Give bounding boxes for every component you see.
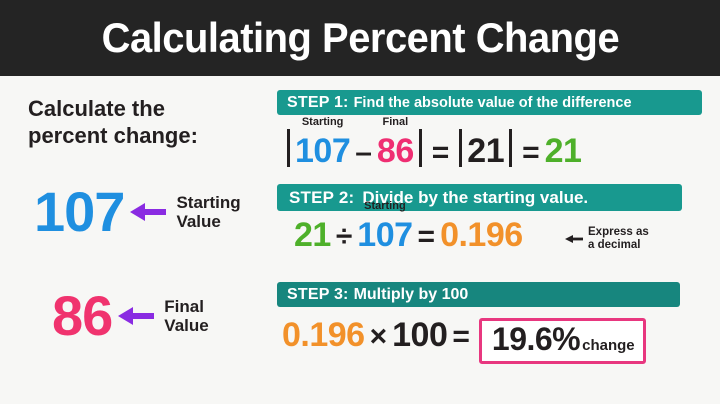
- starting-value-label: Starting Value: [176, 193, 240, 231]
- final-term-group: Final 86: [377, 134, 414, 168]
- decimal-note: Express as a decimal: [564, 226, 649, 252]
- equals-operator-2: =: [522, 138, 540, 168]
- arrow-left-icon: [128, 200, 168, 224]
- final-answer-box: 19.6% change: [479, 318, 646, 364]
- minus-operator: –: [355, 138, 372, 168]
- eq2-result: 0.196: [440, 218, 523, 252]
- eq1-result: 21: [545, 134, 582, 168]
- steps-panel: STEP 1: Find the absolute value of the d…: [272, 76, 720, 404]
- arrow-left-icon: [564, 233, 584, 245]
- eq1-starting-value: 107: [295, 132, 350, 170]
- step-2-header: STEP 2: Divide by the starting value.: [277, 184, 682, 211]
- abs-bar-close-2-icon: [509, 129, 512, 167]
- abs-bar-close-icon: [419, 129, 422, 167]
- times-operator: ×: [370, 322, 388, 352]
- denominator-group: Starting 107: [357, 218, 412, 252]
- equals-operator-4: =: [452, 322, 470, 352]
- eq1-final-value: 86: [377, 132, 414, 170]
- equals-operator-1: =: [432, 138, 450, 168]
- title-banner: Calculating Percent Change: [0, 0, 720, 76]
- final-value-row: 86 Final Value: [52, 288, 209, 344]
- abs-bar-open-2-icon: [459, 129, 462, 167]
- starting-term-group: Starting 107: [295, 134, 350, 168]
- step-1-equation: Starting 107 – Final 86 = 21 = 21: [282, 124, 581, 168]
- eq1-difference: 21: [467, 134, 504, 168]
- equals-operator-3: =: [418, 222, 436, 252]
- final-mini-tag: Final: [382, 117, 408, 128]
- problem-panel: Calculate the percent change: 107 Starti…: [0, 76, 272, 404]
- final-answer-value: 19.6%: [492, 323, 580, 357]
- eq2-numerator: 21: [294, 218, 331, 252]
- step-3-header: STEP 3: Multiply by 100: [277, 282, 680, 307]
- arrow-left-icon: [116, 304, 156, 328]
- starting-mini-tag: Starting: [302, 117, 344, 128]
- step-3-label: STEP 3:: [287, 286, 349, 304]
- step-2-equation: 21 ÷ Starting 107 = 0.196: [294, 218, 523, 252]
- step-1-description: Find the absolute value of the differenc…: [354, 95, 632, 111]
- problem-prompt: Calculate the percent change:: [28, 96, 248, 150]
- abs-bar-open-icon: [287, 129, 290, 167]
- step-1-label: STEP 1:: [287, 94, 349, 112]
- decimal-note-text: Express as a decimal: [588, 226, 649, 252]
- step-3-equation: 0.196 × 100 = 19.6% change: [282, 314, 646, 360]
- starting-value-number: 107: [34, 184, 124, 240]
- step-2-label: STEP 2:: [289, 188, 354, 208]
- eq2-denominator: 107: [357, 216, 412, 254]
- page-title: Calculating Percent Change: [101, 17, 619, 59]
- starting-mini-tag-2: Starting: [364, 201, 406, 212]
- starting-value-row: 107 Starting Value: [34, 184, 241, 240]
- step-3-description: Multiply by 100: [354, 286, 469, 304]
- eq3-decimal: 0.196: [282, 318, 365, 352]
- final-answer-suffix: change: [582, 337, 635, 354]
- eq3-hundred: 100: [392, 318, 447, 352]
- step-1-header: STEP 1: Find the absolute value of the d…: [277, 90, 702, 115]
- final-value-number: 86: [52, 288, 112, 344]
- final-value-label: Final Value: [164, 297, 208, 335]
- divide-operator: ÷: [336, 222, 352, 252]
